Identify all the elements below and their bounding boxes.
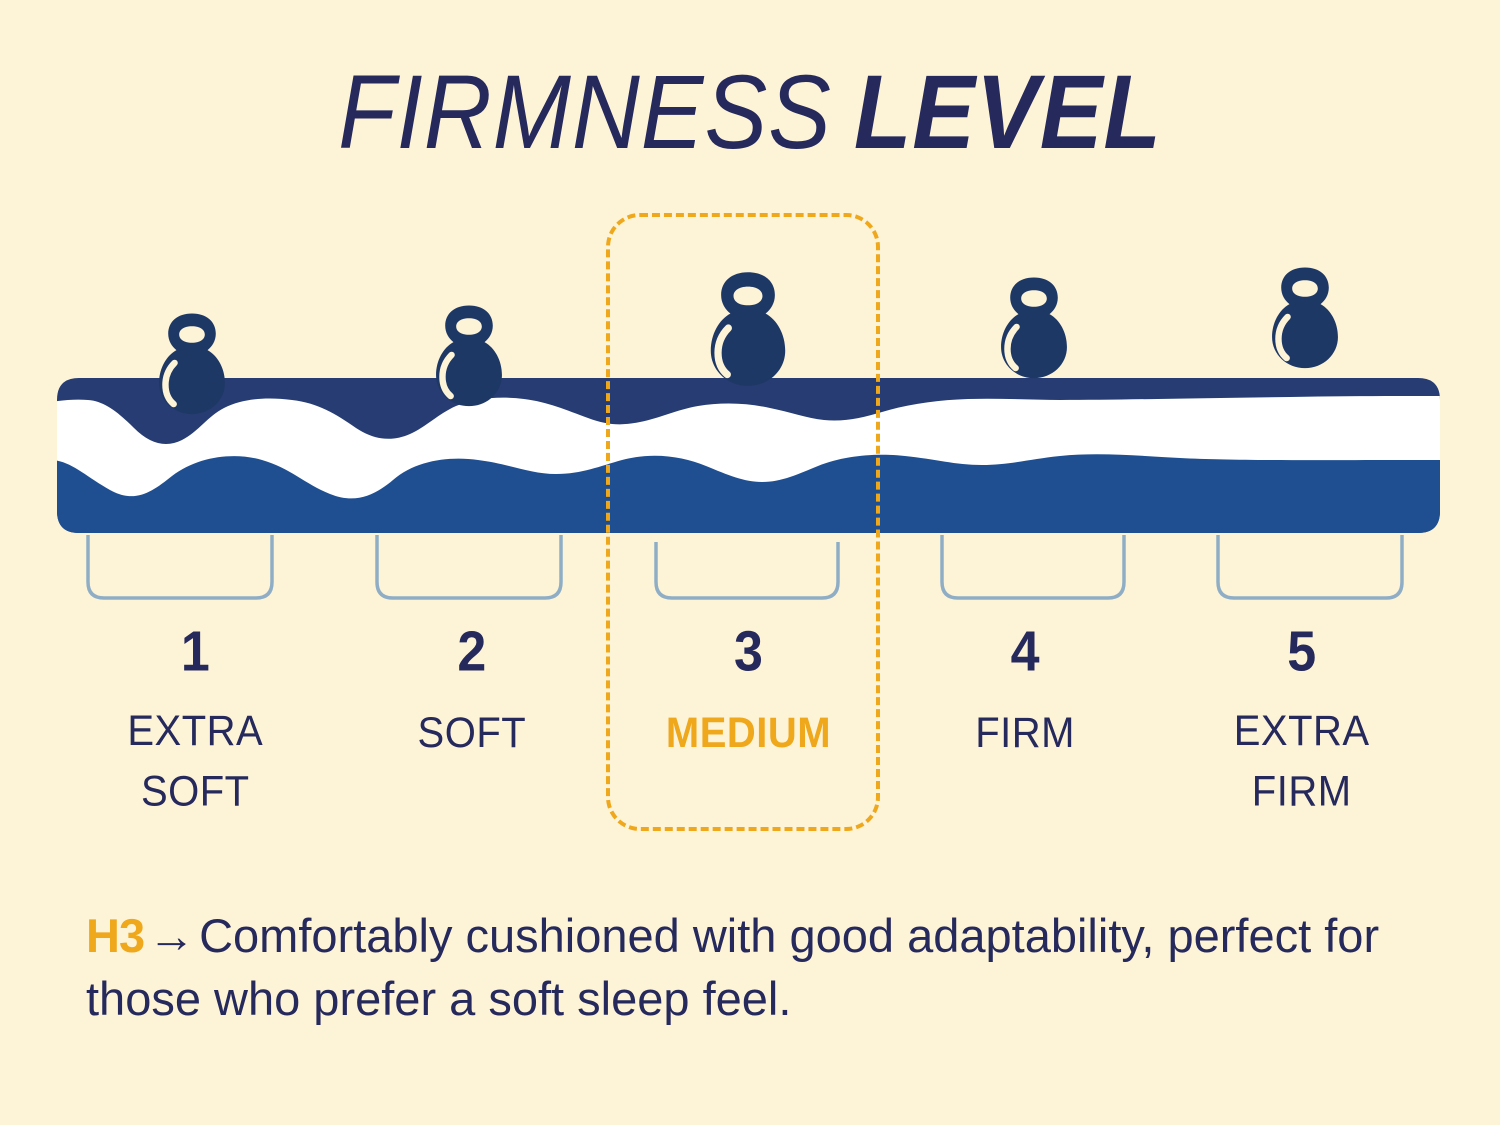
base-bracket-4: [942, 535, 1124, 598]
mattress-body: [50, 370, 1450, 550]
base-bracket-1: [88, 535, 272, 598]
caption-tag: H3: [86, 909, 144, 962]
caption-text: Comfortably cushioned with good adaptabi…: [86, 909, 1379, 1025]
scale-item-3[interactable]: 3 MEDIUM: [610, 626, 887, 826]
title-word-firmness: FIRMNESS: [338, 52, 832, 173]
mattress-illustration: [0, 190, 1500, 620]
scale-label-1: EXTRA SOFT: [57, 702, 334, 822]
kettlebell-icon-1: [159, 313, 225, 414]
scale-label-2: SOFT: [334, 703, 611, 763]
scale-label-5: EXTRA FIRM: [1163, 702, 1440, 822]
scale-number-4: 4: [887, 624, 1164, 680]
title-word-level: LEVEL: [854, 52, 1162, 173]
infographic-root: FIRMNESSLEVEL: [0, 0, 1500, 1125]
scale-item-2[interactable]: 2 SOFT: [334, 626, 611, 826]
base-bracket-5: [1218, 535, 1402, 598]
base-bracket-2: [377, 535, 561, 598]
base-brackets: [88, 535, 1402, 598]
scale-item-1[interactable]: 1 EXTRA SOFT: [57, 626, 334, 826]
scale-number-2: 2: [334, 624, 611, 680]
scale-label-3: MEDIUM: [610, 703, 887, 763]
kettlebell-icon-4: [1001, 277, 1067, 378]
page-title: FIRMNESSLEVEL: [0, 58, 1500, 166]
base-bracket-3: [656, 542, 838, 598]
scale-number-1: 1: [57, 624, 334, 680]
kettlebell-icon-5: [1272, 267, 1338, 368]
firmness-scale: 1 EXTRA SOFT 2 SOFT 3 MEDIUM 4 FIRM 5 EX…: [57, 626, 1440, 826]
scale-item-4[interactable]: 4 FIRM: [887, 626, 1164, 826]
arrow-icon: →: [144, 909, 199, 962]
scale-label-4: FIRM: [887, 703, 1164, 763]
kettlebell-icon-3: [711, 272, 785, 386]
scale-item-5[interactable]: 5 EXTRA FIRM: [1163, 626, 1440, 826]
caption: H3→Comfortably cushioned with good adapt…: [86, 905, 1416, 1030]
kettlebell-icon-2: [436, 305, 502, 406]
scale-number-5: 5: [1163, 624, 1440, 680]
scale-number-3: 3: [610, 624, 887, 680]
